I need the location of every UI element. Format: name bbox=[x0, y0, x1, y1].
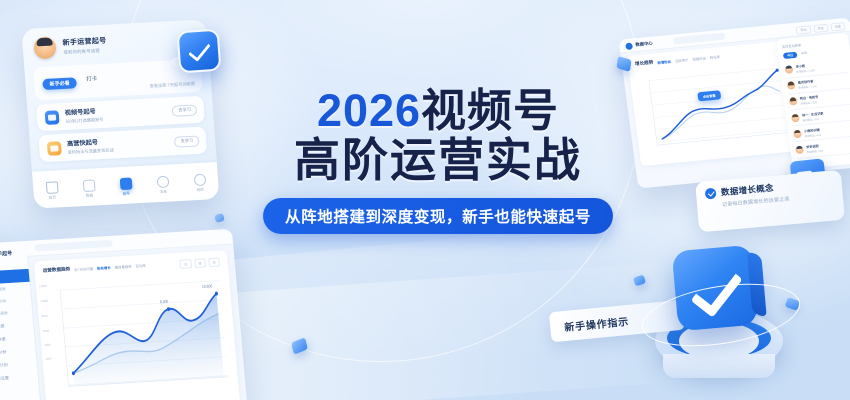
range-button[interactable]: 月 bbox=[208, 257, 220, 267]
nav-item-data[interactable]: 数据 bbox=[82, 179, 95, 199]
banner-canvas: 新手运营起号 成就你的账号运营 立即查看 新手必看 打卡 查看全部 7天起号训练… bbox=[0, 0, 850, 400]
avatar bbox=[793, 129, 802, 138]
sidebar-item[interactable]: 系统设置 bbox=[0, 369, 38, 385]
user-stat: 新增粉丝 +502 bbox=[807, 149, 824, 155]
dashboard-left: 新手起号 数据总览 账号运营 内容管理 作品分析 粉丝画像 变现数据 直播数据 … bbox=[0, 229, 248, 400]
hero-year: 2026 bbox=[317, 85, 421, 136]
nav-item-message[interactable]: 消息 bbox=[156, 175, 169, 195]
home-icon bbox=[45, 181, 58, 194]
logo-text: 新手起号 bbox=[0, 249, 12, 257]
chart-title-right: 增长趋势 bbox=[635, 60, 654, 68]
chart-chip-active[interactable]: 新增粉丝 bbox=[657, 58, 671, 64]
user-stat: 新增粉丝 +928 bbox=[800, 100, 819, 106]
app-promo-row[interactable]: 新手必看 打卡 查看全部 7天起号训练营 bbox=[33, 59, 202, 101]
chart-chip[interactable]: 播放量趋势 bbox=[114, 263, 131, 269]
y-tick: 12000 bbox=[39, 284, 47, 288]
user-stat: 新增粉丝 +764 bbox=[802, 116, 824, 122]
app-launcher-icon[interactable] bbox=[177, 29, 222, 74]
shield-icon bbox=[119, 177, 132, 190]
video-icon bbox=[45, 110, 60, 125]
list-item-subtitle: 从0到1打造爆款账号 bbox=[65, 117, 104, 125]
list-item[interactable]: 高营快起号 进阶玩法与流量变现实战 去学习 bbox=[38, 127, 207, 163]
chart-svg: 8,300 10,600 bbox=[44, 270, 232, 400]
nav-label: 起号 bbox=[123, 191, 131, 196]
y-tick: 8000 bbox=[41, 314, 48, 318]
hero-line-1-rest: 视频号 bbox=[421, 85, 559, 136]
action-button[interactable]: 筛选 bbox=[813, 23, 828, 33]
area-chart: 8,300 10,600 12000 10000 8000 6000 4000 … bbox=[44, 270, 232, 400]
check-circle-icon bbox=[705, 187, 717, 199]
tab-week[interactable]: 本周 bbox=[801, 51, 808, 58]
chart-svg-right bbox=[636, 60, 791, 159]
hero-text-block: 2026视频号 高阶运营实战 从阵地搭建到深度变现，新手也能快速起号 bbox=[228, 88, 648, 234]
chart-panel: 运营数据趋势 近7日访问量 粉丝增长 播放量趋势 互动率 日 周 月 bbox=[34, 250, 240, 400]
logo-text: 数据中心 bbox=[635, 41, 653, 49]
chart-panel-right: 增长趋势 新增粉丝 活跃用户 观看时长 转化率 bbox=[627, 41, 799, 166]
list-item-title: 高营快起号 bbox=[67, 136, 114, 147]
hero-line-1: 2026视频号 bbox=[228, 88, 648, 134]
nav-item-profile[interactable]: 我的 bbox=[193, 173, 206, 193]
svg-text:10,600: 10,600 bbox=[202, 284, 213, 289]
hero-subtitle-pill: 从阵地搭建到深度变现，新手也能快速起号 bbox=[263, 198, 613, 234]
person-icon bbox=[193, 173, 206, 186]
nav-label: 首页 bbox=[49, 195, 57, 200]
chart-chip[interactable]: 观看时长 bbox=[692, 55, 706, 61]
dashboard-right-logo: 数据中心 bbox=[625, 40, 653, 50]
avatar bbox=[33, 36, 57, 59]
app-user-subtitle: 成就你的账号运营 bbox=[63, 48, 107, 56]
list-item[interactable]: 视频号起号 从0到1打造爆款账号 去学习 bbox=[36, 96, 205, 132]
list-item-button[interactable]: 去学习 bbox=[174, 135, 199, 147]
logo-icon bbox=[625, 42, 633, 50]
app-promo-text: 打卡 bbox=[86, 74, 97, 83]
chart-chip[interactable]: 近7日访问量 bbox=[74, 265, 93, 271]
avatar bbox=[787, 81, 796, 90]
clock-icon bbox=[156, 175, 169, 188]
chart-title: 运营数据趋势 bbox=[42, 266, 70, 274]
avatar bbox=[789, 97, 798, 106]
avatar bbox=[785, 65, 794, 74]
y-tick: 2000 bbox=[45, 357, 52, 361]
list-item-button[interactable]: 去学习 bbox=[172, 104, 197, 116]
chart-chip[interactable]: 互动率 bbox=[135, 262, 146, 268]
search-input[interactable] bbox=[34, 240, 113, 252]
y-tick: 10000 bbox=[40, 299, 48, 303]
hero-line-2: 高阶运营实战 bbox=[228, 136, 648, 184]
avatar bbox=[791, 113, 800, 122]
nav-item-home[interactable]: 首页 bbox=[45, 181, 58, 201]
hero-3d-object bbox=[645, 248, 795, 388]
chart-icon bbox=[82, 179, 95, 192]
badge-title: 数据增长概念 bbox=[721, 182, 775, 199]
folder-icon bbox=[47, 141, 62, 156]
user-stat: 新增粉丝 +1,286 bbox=[796, 68, 815, 74]
range-button[interactable]: 日 bbox=[180, 259, 192, 269]
y-tick: 6000 bbox=[43, 329, 50, 333]
action-button[interactable]: 设置 bbox=[830, 22, 845, 32]
svg-text:8,300: 8,300 bbox=[160, 299, 169, 304]
chart-range-controls: 日 周 月 bbox=[180, 257, 220, 268]
chart-chip[interactable]: 转化率 bbox=[709, 54, 720, 60]
nav-label: 数据 bbox=[86, 193, 94, 198]
list-item-title: 视频号起号 bbox=[64, 106, 103, 117]
chart-chip[interactable]: 活跃用户 bbox=[674, 57, 688, 63]
user-stat: 新增粉丝 +613 bbox=[805, 132, 822, 138]
nav-label: 我的 bbox=[197, 187, 205, 192]
check-icon bbox=[188, 38, 211, 62]
search-input[interactable] bbox=[673, 33, 726, 44]
chart-tooltip-label: 点击查看 bbox=[703, 94, 716, 99]
avatar bbox=[795, 145, 804, 154]
list-item-subtitle: 进阶玩法与流量变现实战 bbox=[67, 147, 113, 155]
user-list-title: 实时互动榜单 bbox=[782, 42, 802, 49]
range-button[interactable]: 周 bbox=[194, 258, 206, 268]
tab-today[interactable]: 今日 bbox=[783, 52, 798, 60]
action-button[interactable]: 导出 bbox=[796, 25, 811, 35]
app-user-name: 新手运营起号 bbox=[62, 36, 106, 48]
line-chart-right: 点击查看 bbox=[636, 60, 791, 159]
app-promo-tag: 新手必看 bbox=[42, 77, 77, 90]
nav-label: 消息 bbox=[160, 189, 168, 194]
app-promo-link[interactable]: 查看全部 7天起号训练营 bbox=[149, 81, 195, 89]
nav-item-start[interactable]: 起号 bbox=[119, 177, 132, 197]
guide-tag-label: 新手操作指示 bbox=[564, 312, 630, 333]
chart-chip-active[interactable]: 粉丝增长 bbox=[97, 264, 111, 270]
user-stat: 新增粉丝 +1,042 bbox=[798, 84, 817, 90]
y-tick: 4000 bbox=[44, 343, 51, 347]
